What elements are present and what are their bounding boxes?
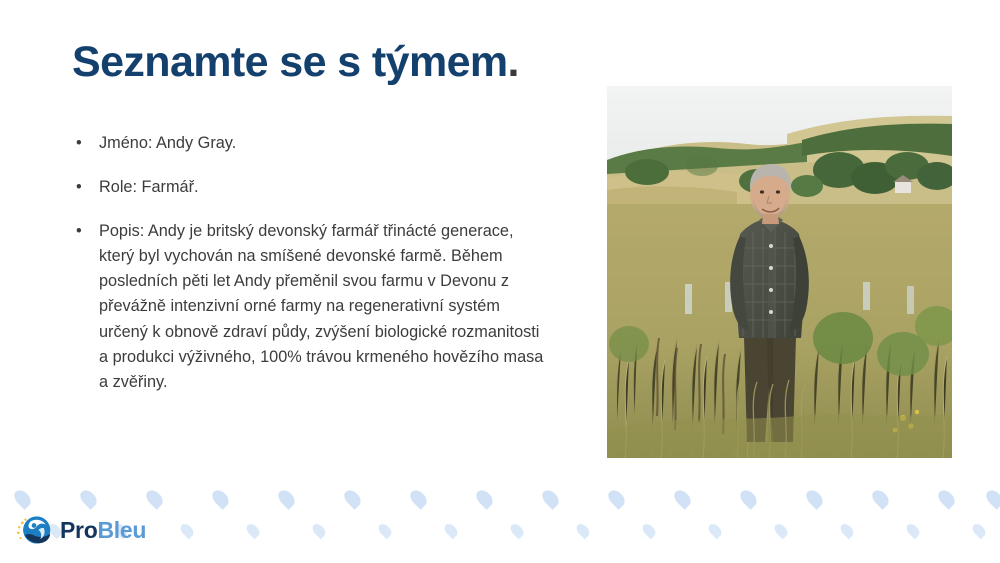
droplet-icon (838, 522, 856, 540)
droplet-icon (244, 522, 262, 540)
droplet-icon (539, 487, 562, 510)
farmer-photo (607, 86, 952, 458)
droplet-icon (11, 487, 34, 510)
logo-text-bleu: Bleu (97, 517, 146, 543)
list-item-text: Popis: Andy je britský devonský farmář t… (99, 219, 552, 395)
list-item-text: Role: Farmář. (99, 175, 552, 200)
bullet-marker-icon: • (76, 131, 82, 156)
logo-text-pro: Pro (60, 517, 97, 543)
droplet-icon (605, 487, 628, 510)
droplet-icon (473, 487, 496, 510)
droplet-icon (341, 487, 364, 510)
droplet-icon (869, 487, 892, 510)
droplet-icon (772, 522, 790, 540)
droplet-icon (508, 522, 526, 540)
droplet-icon (209, 487, 232, 510)
droplet-icon (737, 487, 760, 510)
list-item: • Popis: Andy je britský devonský farmář… (72, 219, 552, 395)
droplet-icon (706, 522, 724, 540)
droplet-icon (983, 487, 1000, 510)
droplet-icon (803, 487, 826, 510)
droplet-icon (77, 487, 100, 510)
page-title: Seznamte se s týmem. (72, 38, 519, 87)
list-item: • Jméno: Andy Gray. (72, 131, 552, 156)
page-title-period: . (508, 38, 519, 86)
droplet-icon (935, 487, 958, 510)
page-title-text: Seznamte se s týmem (72, 38, 508, 86)
bullet-marker-icon: • (76, 219, 82, 244)
droplet-icon (143, 487, 166, 510)
list-item-text: Jméno: Andy Gray. (99, 131, 552, 156)
droplet-icon (640, 522, 658, 540)
droplet-icon (442, 522, 460, 540)
droplet-icon (310, 522, 328, 540)
slide: Seznamte se s týmem. • Jméno: Andy Gray.… (0, 0, 1000, 563)
farmer-photo-image (607, 86, 952, 458)
droplet-icon (671, 487, 694, 510)
droplet-icon (970, 522, 988, 540)
droplet-icon (376, 522, 394, 540)
droplet-decoration (0, 473, 1000, 563)
bullet-marker-icon: • (76, 175, 82, 200)
probleu-logo: ProBleu (16, 512, 146, 548)
droplet-icon (178, 522, 196, 540)
bullet-list: • Jméno: Andy Gray. • Role: Farmář. • Po… (72, 131, 552, 395)
droplet-icon (904, 522, 922, 540)
droplet-icon (407, 487, 430, 510)
list-item: • Role: Farmář. (72, 175, 552, 200)
probleu-wordmark: ProBleu (60, 519, 146, 542)
droplet-icon (275, 487, 298, 510)
droplet-icon (574, 522, 592, 540)
probleu-logo-mark-icon (16, 512, 52, 548)
